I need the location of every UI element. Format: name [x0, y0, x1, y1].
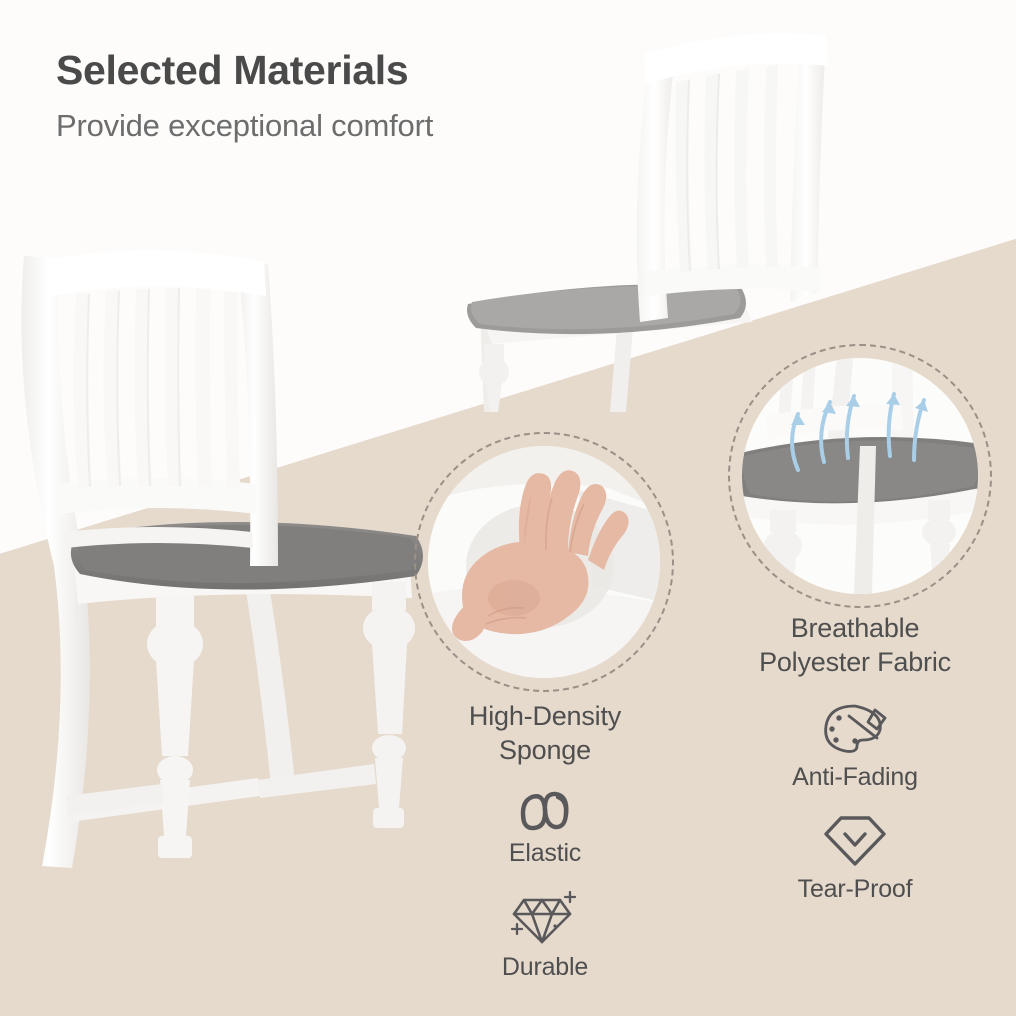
- header-block: Selected Materials Provide exceptional c…: [56, 48, 433, 144]
- feature-anti-fading-label: Anti-Fading: [710, 762, 1000, 792]
- feature-durable-label: Durable: [420, 952, 670, 982]
- breathable-fabric-photo: [742, 358, 978, 594]
- feature-durable: Durable: [420, 888, 670, 982]
- fabric-heading-line1: Breathable: [791, 613, 920, 643]
- page-title: Selected Materials: [56, 48, 433, 93]
- infographic-canvas: High-Density Sponge Elastic: [0, 0, 1016, 1016]
- feature-anti-fading: Anti-Fading: [710, 700, 1000, 792]
- feature-column-sponge: High-Density Sponge Elastic: [420, 700, 670, 982]
- sponge-heading-line2: Sponge: [499, 735, 591, 765]
- sponge-heading-line1: High-Density: [469, 701, 621, 731]
- spring-coil-icon: [514, 788, 576, 834]
- feature-elastic: Elastic: [420, 788, 670, 868]
- high-density-sponge-photo: [428, 446, 660, 678]
- page-subtitle: Provide exceptional comfort: [56, 107, 433, 144]
- feature-tear-proof-label: Tear-Proof: [710, 874, 1000, 904]
- feature-elastic-label: Elastic: [420, 838, 670, 868]
- diamond-icon: [508, 888, 582, 948]
- paint-palette-icon: [819, 700, 891, 758]
- dining-chair-front: [6, 236, 456, 886]
- feature-tear-proof: Tear-Proof: [710, 812, 1000, 904]
- fabric-heading: Breathable Polyester Fabric: [710, 612, 1000, 680]
- feature-column-fabric: Breathable Polyester Fabric Anti-Fading: [710, 612, 1000, 904]
- fabric-heading-line2: Polyester Fabric: [759, 647, 951, 677]
- gem-shield-check-icon: [820, 812, 890, 870]
- sponge-heading: High-Density Sponge: [420, 700, 670, 768]
- dining-chair-back: [440, 0, 880, 412]
